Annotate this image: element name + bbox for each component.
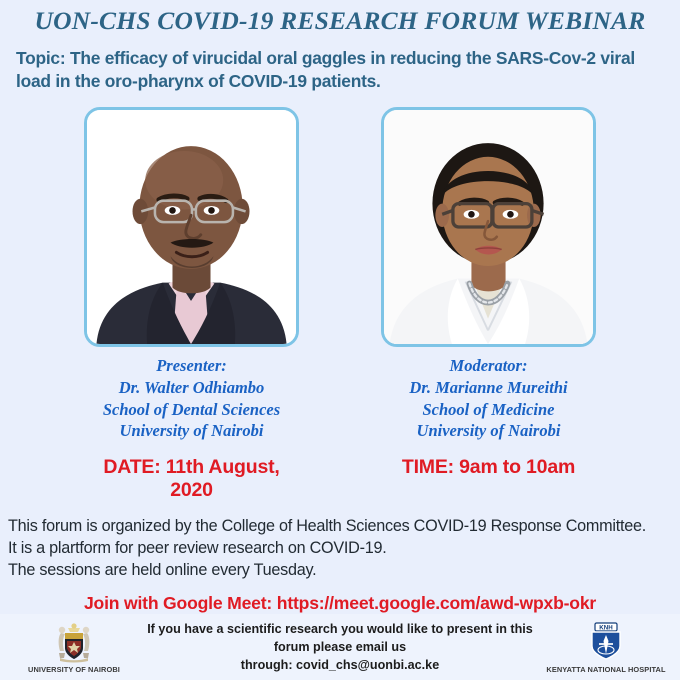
- moderator-photo: [381, 107, 596, 347]
- people-row: Presenter: Dr. Walter Odhiambo School of…: [0, 107, 680, 442]
- presenter-details: Presenter: Dr. Walter Odhiambo School of…: [103, 355, 280, 442]
- description-line-2: It is a plartform for peer review resear…: [8, 537, 672, 559]
- event-date: DATE: 11th August, 2020: [80, 456, 303, 502]
- presenter-school: School of Dental Sciences: [103, 399, 280, 421]
- presenter-university: University of Nairobi: [103, 420, 280, 442]
- datetime-row: DATE: 11th August, 2020 TIME: 9am to 10a…: [0, 456, 680, 502]
- presenter-portrait-illustration: [87, 110, 296, 344]
- university-of-nairobi-logo: UNIVERSITY OF NAIROBI: [14, 621, 134, 674]
- moderator-details: Moderator: Dr. Marianne Mureithi School …: [409, 355, 567, 442]
- footer-line-2: through: covid_chs@uonbi.ac.ke: [138, 656, 542, 674]
- topic-line-1: Topic: The efficacy of virucidal oral ga…: [16, 48, 596, 68]
- event-time: TIME: 9am to 10am: [377, 456, 600, 502]
- presenter-photo: [84, 107, 299, 347]
- moderator-school: School of Medicine: [409, 399, 567, 421]
- moderator-name: Dr. Marianne Mureithi: [409, 377, 567, 399]
- kenyatta-national-hospital-logo: KNH KENYATTA NATIONAL HOSPITAL: [546, 621, 666, 674]
- knh-monogram: KNH: [599, 624, 613, 631]
- page-title: UON-CHS COVID-19 RESEARCH FORUM WEBINAR: [0, 7, 680, 35]
- moderator-block: Moderator: Dr. Marianne Mureithi School …: [377, 107, 600, 442]
- uon-crest-icon: [54, 621, 94, 663]
- knh-shield-icon: KNH: [587, 621, 625, 663]
- knh-logo-caption: KENYATTA NATIONAL HOSPITAL: [546, 665, 665, 674]
- google-meet-link[interactable]: Join with Google Meet: https://meet.goog…: [0, 593, 680, 614]
- presenter-role: Presenter:: [103, 355, 280, 377]
- presenter-block: Presenter: Dr. Walter Odhiambo School of…: [80, 107, 303, 442]
- webinar-poster: UON-CHS COVID-19 RESEARCH FORUM WEBINAR …: [0, 0, 680, 680]
- presenter-name: Dr. Walter Odhiambo: [103, 377, 280, 399]
- footer-contact-text: If you have a scientific research you wo…: [134, 620, 546, 675]
- uon-logo-caption: UNIVERSITY OF NAIROBI: [28, 665, 120, 674]
- moderator-role: Moderator:: [409, 355, 567, 377]
- footer: UNIVERSITY OF NAIROBI If you have a scie…: [0, 614, 680, 680]
- description-line-3: The sessions are held online every Tuesd…: [8, 559, 672, 581]
- moderator-portrait-illustration: [384, 110, 593, 344]
- moderator-university: University of Nairobi: [409, 420, 567, 442]
- topic-text: Topic: The efficacy of virucidal oral ga…: [16, 47, 664, 93]
- footer-line-1: If you have a scientific research you wo…: [138, 620, 542, 657]
- description-line-1: This forum is organized by the College o…: [8, 515, 672, 537]
- description-text: This forum is organized by the College o…: [8, 515, 672, 581]
